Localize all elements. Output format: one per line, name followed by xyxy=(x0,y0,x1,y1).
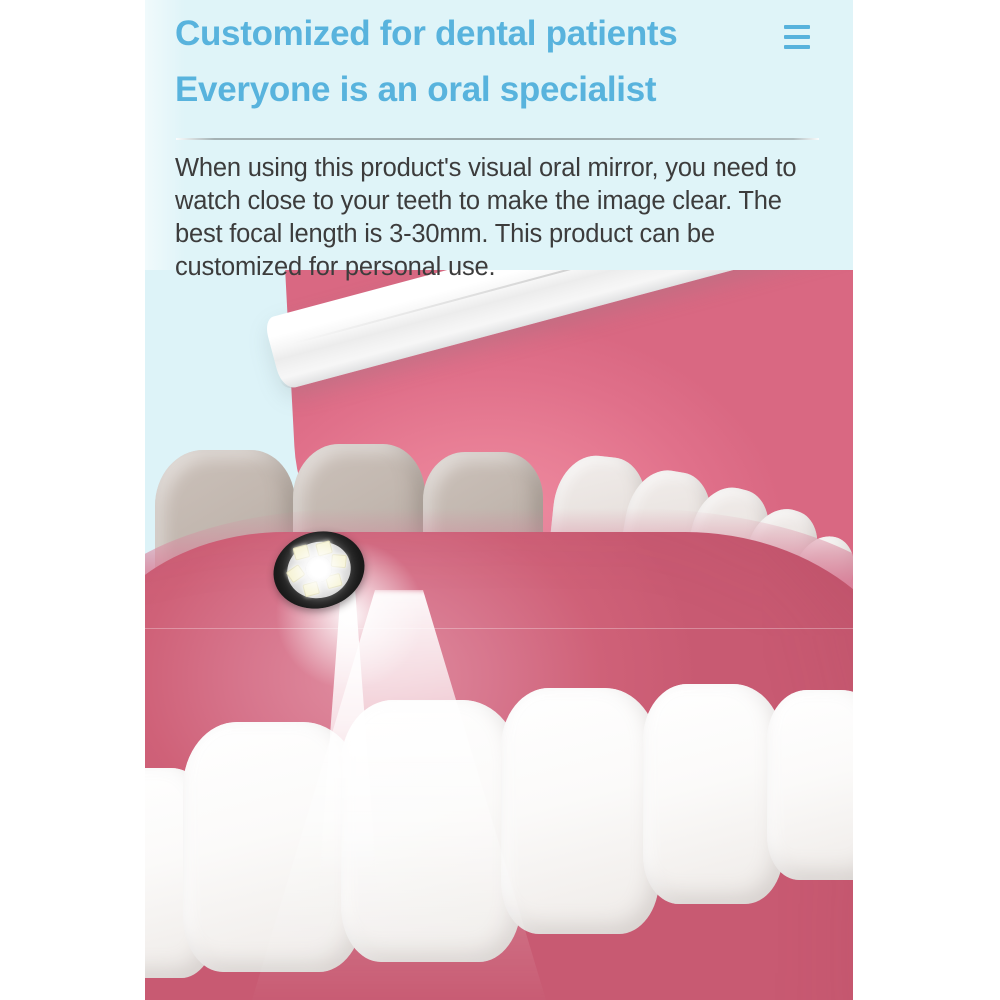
led-3 xyxy=(331,554,347,568)
menu-bar-3 xyxy=(784,45,810,49)
product-marketing-page: Customized for dental patients Everyone … xyxy=(0,0,1000,1000)
description-paragraph: When using this product's visual oral mi… xyxy=(175,152,823,284)
menu-bar-1 xyxy=(784,25,810,29)
lower-tooth-1 xyxy=(183,722,363,972)
headline-line-1: Customized for dental patients xyxy=(175,16,795,51)
menu-bar-2 xyxy=(784,35,810,39)
headline-line-2: Everyone is an oral specialist xyxy=(175,72,795,107)
lower-tooth-5 xyxy=(767,690,853,880)
hamburger-menu-icon[interactable] xyxy=(784,25,810,49)
header-block: Customized for dental patients Everyone … xyxy=(145,0,853,300)
header-divider xyxy=(176,138,819,140)
lower-tooth-2 xyxy=(341,700,521,962)
lower-tooth-3 xyxy=(501,688,659,934)
product-scene-photo xyxy=(145,270,853,1000)
lower-tooth-4 xyxy=(643,684,783,904)
